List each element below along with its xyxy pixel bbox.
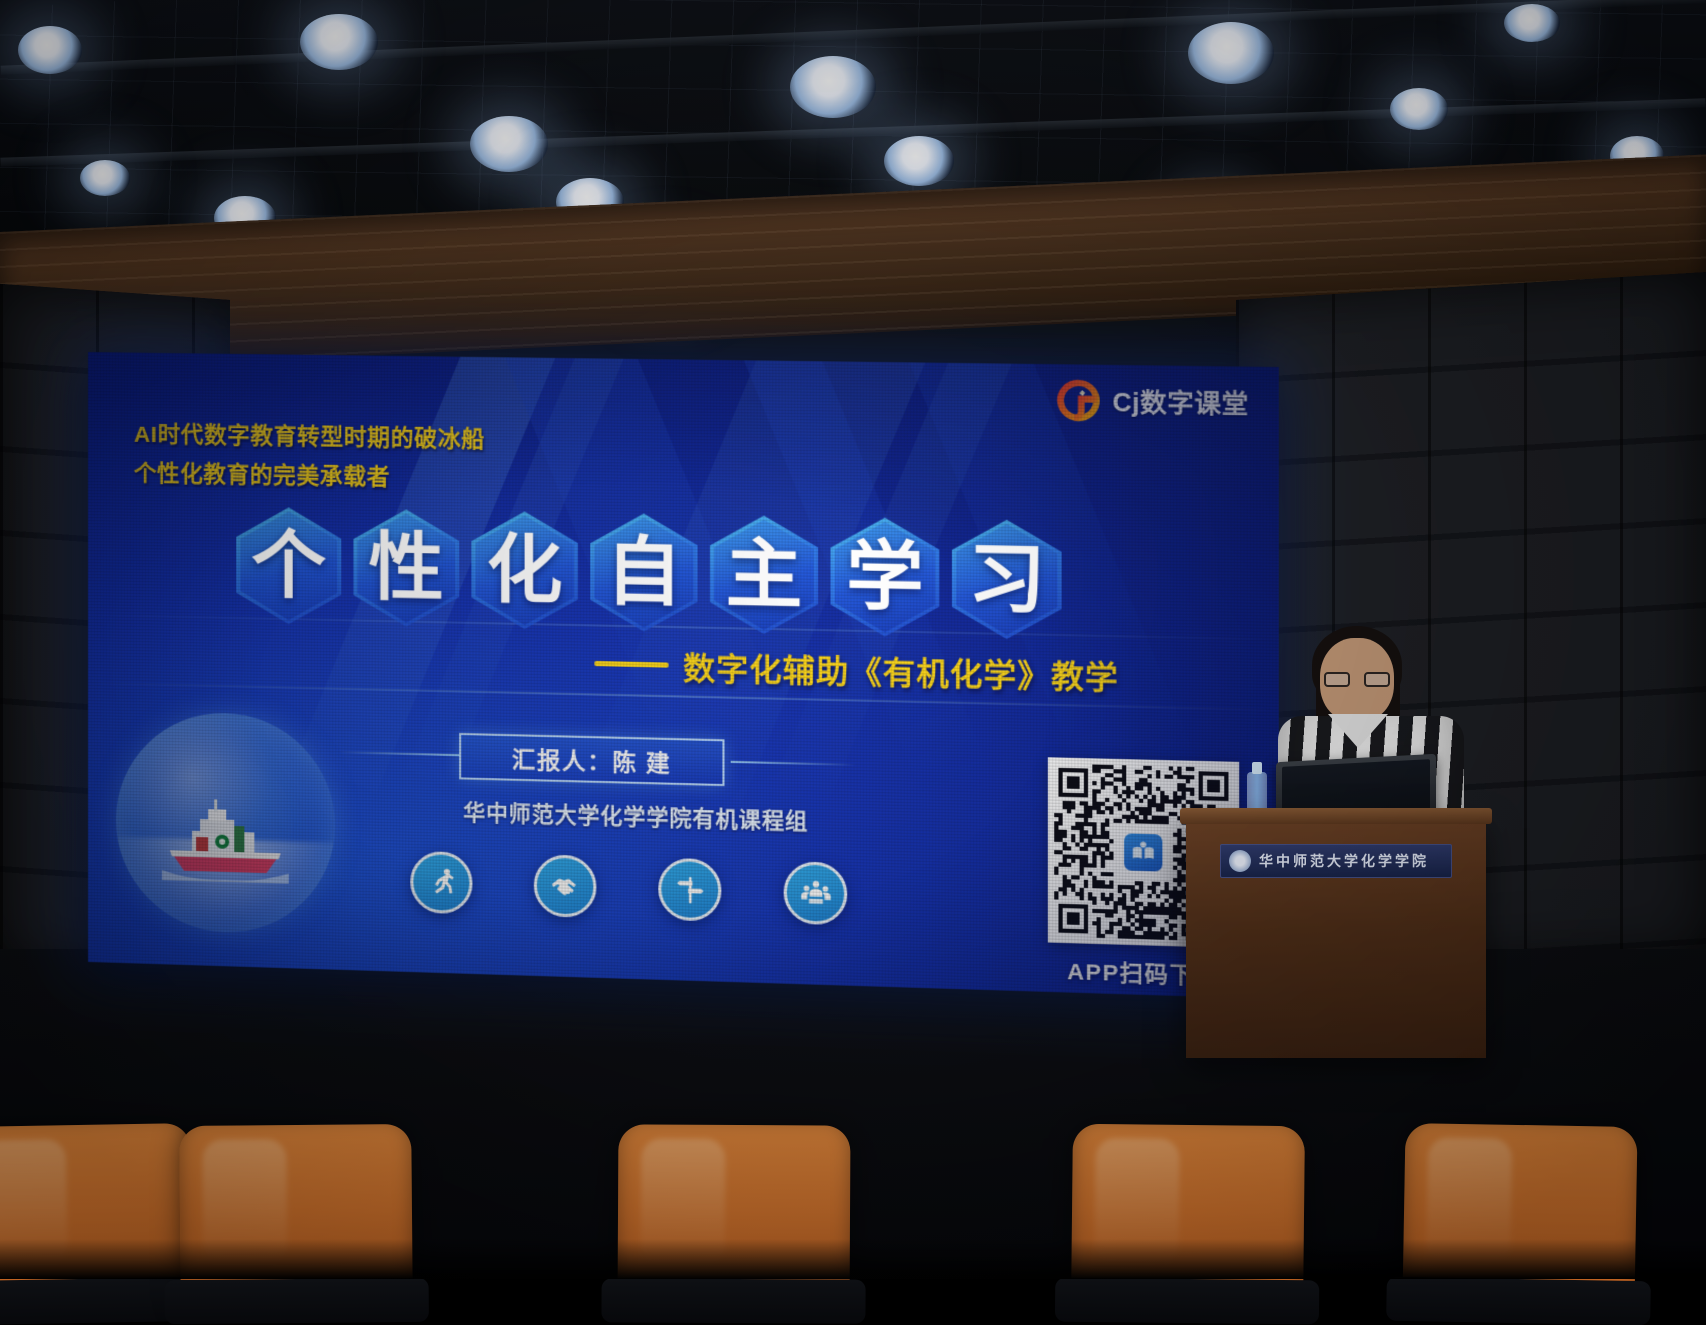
title-hex-6: 学 (831, 517, 940, 638)
eyebrow-line-2: 个性化教育的完美承载者 (134, 454, 485, 499)
ceiling-light (18, 26, 82, 74)
feature-icon-row (410, 851, 847, 925)
eyebrow-line-1: AI时代数字教育转型时期的破冰船 (134, 415, 485, 460)
podium-nameplate: 华中师范大学化学学院 (1220, 844, 1452, 878)
title-char: 主 (726, 536, 803, 613)
chair (1402, 1123, 1637, 1307)
title-char: 自 (606, 534, 682, 611)
slide-title-hexagons: 个 性 化 自 主 学 习 (236, 507, 1061, 641)
ceiling-light (1504, 4, 1560, 42)
cj-swoosh-logo-icon (1054, 376, 1103, 424)
podium-nameplate-text: 华中师范大学化学学院 (1259, 851, 1429, 871)
running-person-icon[interactable] (410, 851, 472, 914)
led-screen-slide[interactable]: Cj数字课堂 AI时代数字教育转型时期的破冰船 个性化教育的完美承载者 个 性 … (88, 352, 1279, 999)
ceiling-light (1390, 88, 1448, 130)
signpost-directions-icon[interactable] (658, 858, 721, 922)
auditorium-scene: Cj数字课堂 AI时代数字教育转型时期的破冰船 个性化教育的完美承载者 个 性 … (0, 0, 1706, 1279)
chair (0, 1123, 194, 1307)
brand-name: Cj数字课堂 (1112, 382, 1248, 421)
foreground-chairs (0, 1064, 1706, 1279)
slide-eyebrow: AI时代数字教育转型时期的破冰船 个性化教育的完美承载者 (134, 415, 485, 500)
ceiling-light (1188, 22, 1274, 84)
app-book-badge-icon (1122, 831, 1165, 873)
title-hex-5: 主 (710, 515, 818, 635)
podium: 华中师范大学化学学院 (1186, 818, 1486, 1058)
title-hex-4: 自 (590, 513, 697, 633)
ceiling-light (300, 14, 378, 70)
people-group-icon[interactable] (784, 861, 848, 925)
title-char: 习 (968, 541, 1046, 619)
title-hex-7: 习 (952, 519, 1062, 640)
title-char: 学 (846, 539, 923, 616)
ceiling-light (80, 160, 130, 196)
title-char: 个 (251, 528, 326, 604)
university-seal-icon (1229, 850, 1251, 872)
ceiling-light (470, 116, 548, 172)
ceiling-light (884, 136, 954, 186)
subtitle-text: 数字化辅助《有机化学》教学 (683, 643, 1119, 699)
presenter-plate: 汇报人：陈 建 (459, 733, 724, 786)
glasses (1324, 672, 1390, 687)
title-char: 性 (369, 530, 444, 606)
title-hex-2: 性 (353, 509, 459, 628)
presenter-name: 汇报人：陈 建 (512, 740, 671, 778)
title-char: 化 (487, 532, 563, 608)
brand-logo: Cj数字课堂 (1054, 376, 1249, 426)
title-hex-3: 化 (471, 511, 578, 631)
ceiling-light (790, 56, 876, 118)
subtitle-dash (594, 661, 668, 668)
handshake-icon[interactable] (534, 854, 597, 918)
title-hex-1: 个 (236, 507, 341, 626)
podium-top (1180, 808, 1492, 824)
